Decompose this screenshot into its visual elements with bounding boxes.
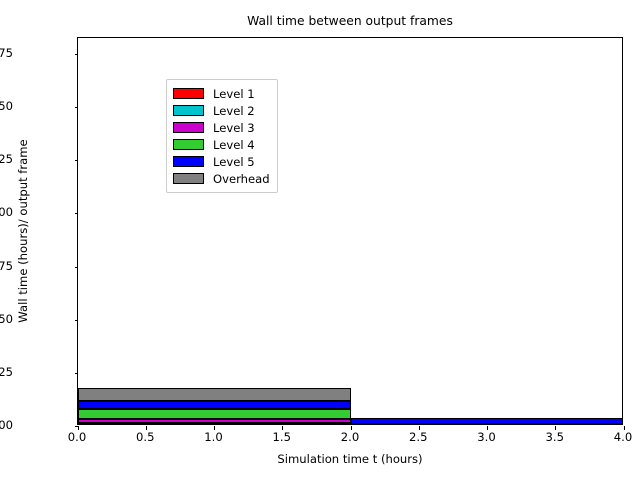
y-tick-mark bbox=[75, 320, 79, 321]
x-tick-mark bbox=[624, 426, 625, 430]
legend-color-swatch bbox=[173, 88, 204, 99]
bar-segment bbox=[78, 423, 351, 424]
y-axis-label: Wall time (hours)/ output frame bbox=[16, 37, 32, 425]
x-tick-mark bbox=[146, 426, 147, 430]
legend-item: Level 1 bbox=[173, 85, 270, 102]
y-tick-mark bbox=[75, 160, 79, 161]
bar-segment bbox=[78, 409, 351, 419]
y-tick-mark bbox=[75, 54, 79, 55]
bar-segment bbox=[78, 388, 351, 400]
y-tick-label: 0.125 bbox=[0, 152, 13, 166]
x-tick-mark bbox=[282, 426, 283, 430]
legend-label: Level 5 bbox=[213, 155, 255, 169]
bar-segment bbox=[78, 401, 351, 410]
x-tick-mark bbox=[419, 426, 420, 430]
y-tick-mark bbox=[75, 213, 79, 214]
legend-label: Level 4 bbox=[213, 138, 255, 152]
y-tick-label: 0.150 bbox=[0, 99, 13, 113]
legend-color-swatch bbox=[173, 156, 204, 167]
x-axis-label: Simulation time t (hours) bbox=[77, 452, 623, 466]
legend-color-swatch bbox=[173, 105, 204, 116]
legend-color-swatch bbox=[173, 173, 204, 184]
y-tick-mark bbox=[75, 267, 79, 268]
x-tick-mark bbox=[78, 426, 79, 430]
chart-title: Wall time between output frames bbox=[77, 14, 623, 28]
legend-label: Overhead bbox=[213, 172, 270, 186]
plot-area: Level 1Level 2Level 3Level 4Level 5Overh… bbox=[77, 37, 623, 425]
legend-item: Level 2 bbox=[173, 102, 270, 119]
y-tick-label: 0.075 bbox=[0, 259, 13, 273]
y-tick-label: 0.050 bbox=[0, 312, 13, 326]
legend-item: Level 3 bbox=[173, 119, 270, 136]
y-tick-mark bbox=[75, 373, 79, 374]
legend-color-swatch bbox=[173, 139, 204, 150]
legend: Level 1Level 2Level 3Level 4Level 5Overh… bbox=[166, 79, 278, 193]
legend-item: Level 5 bbox=[173, 153, 270, 170]
x-tick-mark bbox=[487, 426, 488, 430]
y-tick-label: 0.025 bbox=[0, 365, 13, 379]
legend-item: Overhead bbox=[173, 170, 270, 187]
figure: Wall time between output frames Wall tim… bbox=[0, 0, 640, 480]
legend-label: Level 1 bbox=[213, 87, 255, 101]
y-tick-label: 0.175 bbox=[0, 46, 13, 60]
legend-label: Level 2 bbox=[213, 104, 255, 118]
bars-layer bbox=[78, 38, 622, 424]
y-tick-label: 0.000 bbox=[0, 418, 13, 432]
legend-color-swatch bbox=[173, 122, 204, 133]
x-tick-mark bbox=[351, 426, 352, 430]
y-tick-mark bbox=[75, 107, 79, 108]
x-tick-mark bbox=[214, 426, 215, 430]
x-tick-mark bbox=[555, 426, 556, 430]
bar-segment bbox=[351, 418, 622, 424]
legend-item: Level 4 bbox=[173, 136, 270, 153]
x-tick-label: 4.0 bbox=[578, 430, 640, 444]
legend-label: Level 3 bbox=[213, 121, 255, 135]
y-tick-label: 0.100 bbox=[0, 205, 13, 219]
